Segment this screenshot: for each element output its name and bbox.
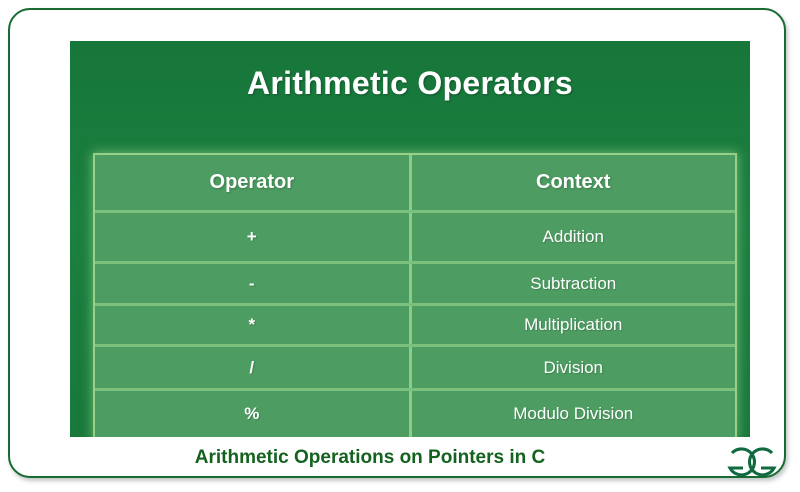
operator-symbol: -: [95, 263, 410, 305]
operator-symbol: +: [95, 212, 410, 263]
column-header-context: Context: [410, 155, 735, 212]
operator-context: Multiplication: [410, 305, 735, 346]
table-row: - Subtraction: [95, 263, 735, 305]
operator-context: Division: [410, 346, 735, 390]
caption: Arithmetic Operations on Pointers in C: [70, 447, 670, 469]
operator-symbol: *: [95, 305, 410, 346]
slide-card: Arithmetic Operators Operator Context + …: [8, 8, 786, 478]
operator-context-table: Operator Context + Addition - Subtractio…: [95, 155, 735, 437]
table-row: % Modulo Division: [95, 390, 735, 438]
operator-context: Addition: [410, 212, 735, 263]
column-header-operator: Operator: [95, 155, 410, 212]
operator-symbol: %: [95, 390, 410, 438]
table-row: + Addition: [95, 212, 735, 263]
operator-context: Modulo Division: [410, 390, 735, 438]
green-content-panel: Arithmetic Operators Operator Context + …: [70, 41, 750, 437]
geeksforgeeks-logo-icon: [710, 442, 780, 482]
table-row: / Division: [95, 346, 735, 390]
table-header-row: Operator Context: [95, 155, 735, 212]
operator-symbol: /: [95, 346, 410, 390]
operator-context: Subtraction: [410, 263, 735, 305]
page-title: Arithmetic Operators: [70, 65, 750, 102]
table-row: * Multiplication: [95, 305, 735, 346]
